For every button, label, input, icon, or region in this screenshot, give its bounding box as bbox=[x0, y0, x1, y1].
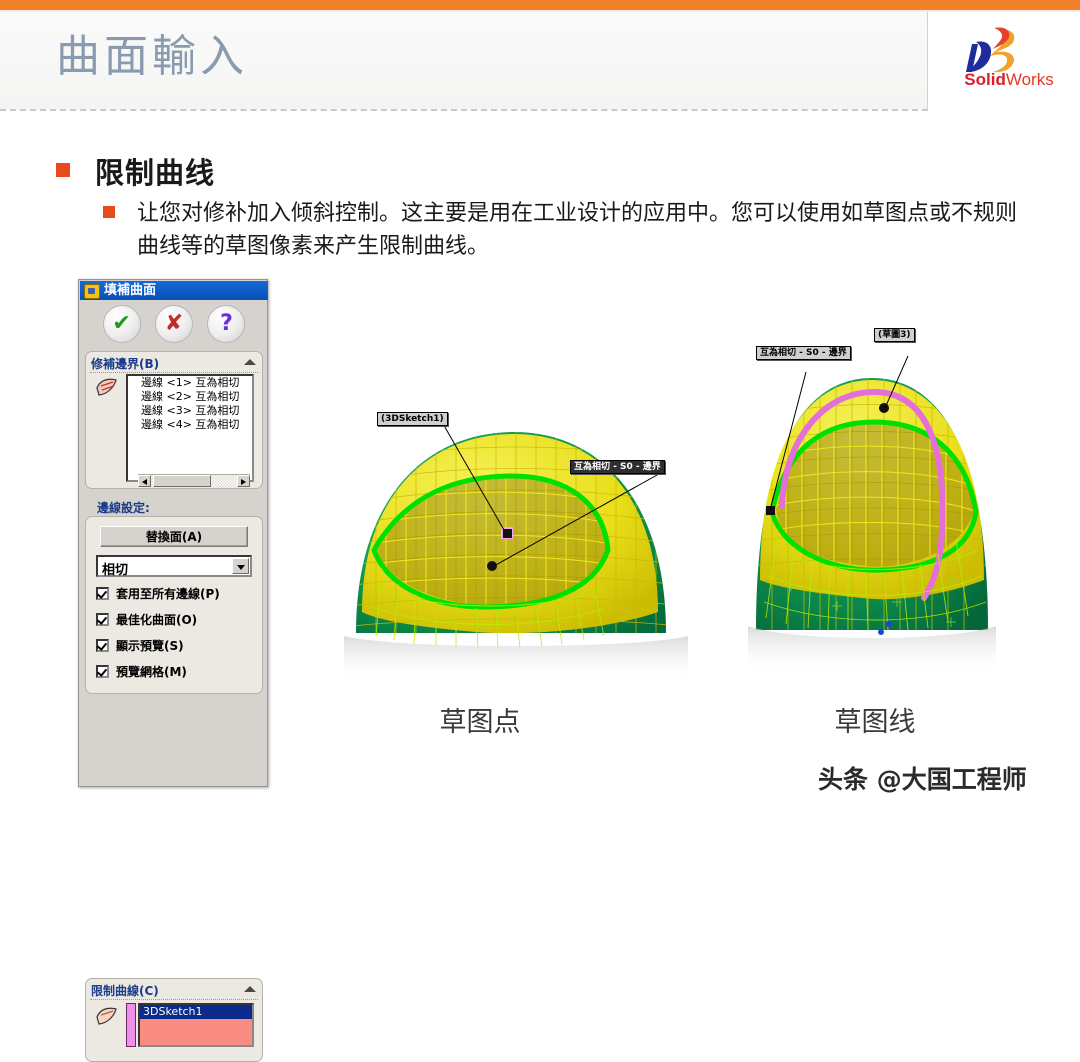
curve-selection-icon bbox=[94, 1005, 120, 1027]
page-title: 曲面輸入 bbox=[56, 20, 248, 84]
scroll-left-arrow-icon[interactable] bbox=[138, 475, 151, 487]
callout-tag: (3DSketch1) bbox=[377, 412, 448, 426]
checkbox-label: 套用至所有邊線(P) bbox=[116, 585, 220, 602]
edge-settings-group: 替換面(A) 相切 套用至所有邊線(P) 最佳化曲面(O) 顯示預覽(S) 預覽… bbox=[85, 516, 263, 694]
dialog-titlebar: 填補曲面 bbox=[80, 281, 268, 300]
help-button[interactable]: ? bbox=[207, 305, 245, 343]
boundary-listbox[interactable]: 邊線 <1> 互為相切 邊線 <2> 互為相切 邊線 <3> 互為相切 邊線 <… bbox=[126, 374, 254, 482]
patch-boundary-label: 修補邊界(B) bbox=[91, 355, 159, 372]
section-paragraph: 让您对修补加入倾斜控制。这主要是用在工业设计的应用中。您可以使用如草图点或不规则… bbox=[137, 197, 1017, 263]
checkbox-label: 顯示預覽(S) bbox=[116, 637, 184, 654]
ok-button[interactable]: ✔ bbox=[103, 305, 141, 343]
list-item[interactable]: 3DSketch1 bbox=[140, 1005, 252, 1019]
callout-tag: (草圖3) bbox=[874, 328, 915, 342]
fill-surface-icon bbox=[84, 284, 100, 299]
dialog-action-bar: ✔ ✘ ? bbox=[79, 302, 269, 346]
model-reflection bbox=[748, 626, 996, 676]
sketch-point-model bbox=[336, 398, 696, 693]
section-heading: 限制曲线 bbox=[95, 150, 215, 192]
curvature-control-select[interactable]: 相切 bbox=[96, 555, 252, 577]
logo-light-text: Works bbox=[1006, 70, 1054, 89]
watermark: 头条 @大国工程师 bbox=[818, 760, 1027, 796]
checkbox-label: 最佳化曲面(O) bbox=[116, 611, 197, 628]
check-icon: ✔ bbox=[104, 306, 140, 342]
cancel-button[interactable]: ✘ bbox=[155, 305, 193, 343]
dialog-title-label: 填補曲面 bbox=[104, 283, 156, 298]
callout-tag: 互為相切 - S0 - 邊界 bbox=[756, 346, 851, 360]
curve-point-marker[interactable] bbox=[879, 403, 889, 413]
list-item[interactable]: 邊線 <3> 互為相切 bbox=[128, 404, 252, 418]
constraint-curves-group: 限制曲線(C) 3DSketch1 bbox=[85, 978, 263, 1062]
scrollbar-thumb[interactable] bbox=[153, 475, 211, 487]
patch-boundary-group: 修補邊界(B) 邊線 <1> 互為相切 邊線 <2> 互為相切 邊線 <3> 互… bbox=[85, 351, 263, 489]
cross-icon: ✘ bbox=[156, 306, 192, 342]
model-reflection bbox=[344, 636, 688, 682]
sketch-point-marker[interactable] bbox=[503, 529, 512, 538]
question-mark-icon: ? bbox=[208, 306, 244, 342]
collapse-caret-icon[interactable] bbox=[244, 986, 256, 992]
bullet-marker-level2 bbox=[103, 206, 115, 218]
solidworks-logo: SolidWorks bbox=[940, 26, 1072, 100]
top-accent-bar bbox=[0, 0, 1080, 10]
list-item[interactable]: 邊線 <4> 互為相切 bbox=[128, 418, 252, 432]
bullet-marker-level1 bbox=[56, 163, 70, 177]
face-selection-icon bbox=[94, 376, 120, 398]
list-item[interactable]: 邊線 <1> 互為相切 bbox=[128, 376, 252, 390]
list-item[interactable]: 邊線 <2> 互為相切 bbox=[128, 390, 252, 404]
constraint-curves-listbox[interactable]: 3DSketch1 bbox=[138, 1003, 254, 1047]
constraint-color-swatch bbox=[126, 1003, 136, 1047]
boundary-point-marker[interactable] bbox=[487, 561, 497, 571]
checkbox-label: 預覽網格(M) bbox=[116, 663, 187, 680]
sketch-line-model bbox=[742, 330, 1002, 692]
solidworks-wordmark: SolidWorks bbox=[946, 70, 1072, 89]
3ds-logo-mark-icon bbox=[958, 26, 1032, 76]
replace-face-button[interactable]: 替換面(A) bbox=[100, 526, 248, 547]
property-manager-dialog: 填補曲面 ✔ ✘ ? 修補邊界(B) 邊線 <1> 互為相切 邊線 <2> 互為… bbox=[78, 279, 268, 787]
patch-boundary-header: 修補邊界(B) bbox=[90, 355, 258, 373]
checkbox-icon[interactable] bbox=[96, 587, 109, 600]
collapse-caret-icon[interactable] bbox=[244, 359, 256, 365]
boundary-horizontal-scrollbar[interactable] bbox=[138, 474, 250, 487]
checkbox-icon[interactable] bbox=[96, 613, 109, 626]
origin-marker bbox=[886, 621, 892, 627]
constraint-curves-header: 限制曲線(C) bbox=[90, 982, 258, 1000]
checkbox-icon[interactable] bbox=[96, 639, 109, 652]
constraint-curves-label: 限制曲線(C) bbox=[91, 982, 159, 999]
edge-settings-label: 邊線設定: bbox=[97, 499, 150, 516]
checkbox-icon[interactable] bbox=[96, 665, 109, 678]
model-caption: 草图线 bbox=[775, 700, 975, 739]
origin-marker bbox=[878, 629, 884, 635]
chevron-down-icon[interactable] bbox=[232, 558, 249, 574]
logo-bold-text: Solid bbox=[964, 70, 1006, 89]
curvature-control-value: 相切 bbox=[102, 559, 128, 578]
scroll-right-arrow-icon[interactable] bbox=[237, 475, 250, 487]
model-caption: 草图点 bbox=[380, 700, 580, 739]
callout-tag: 互為相切 - S0 - 邊界 bbox=[570, 460, 665, 474]
